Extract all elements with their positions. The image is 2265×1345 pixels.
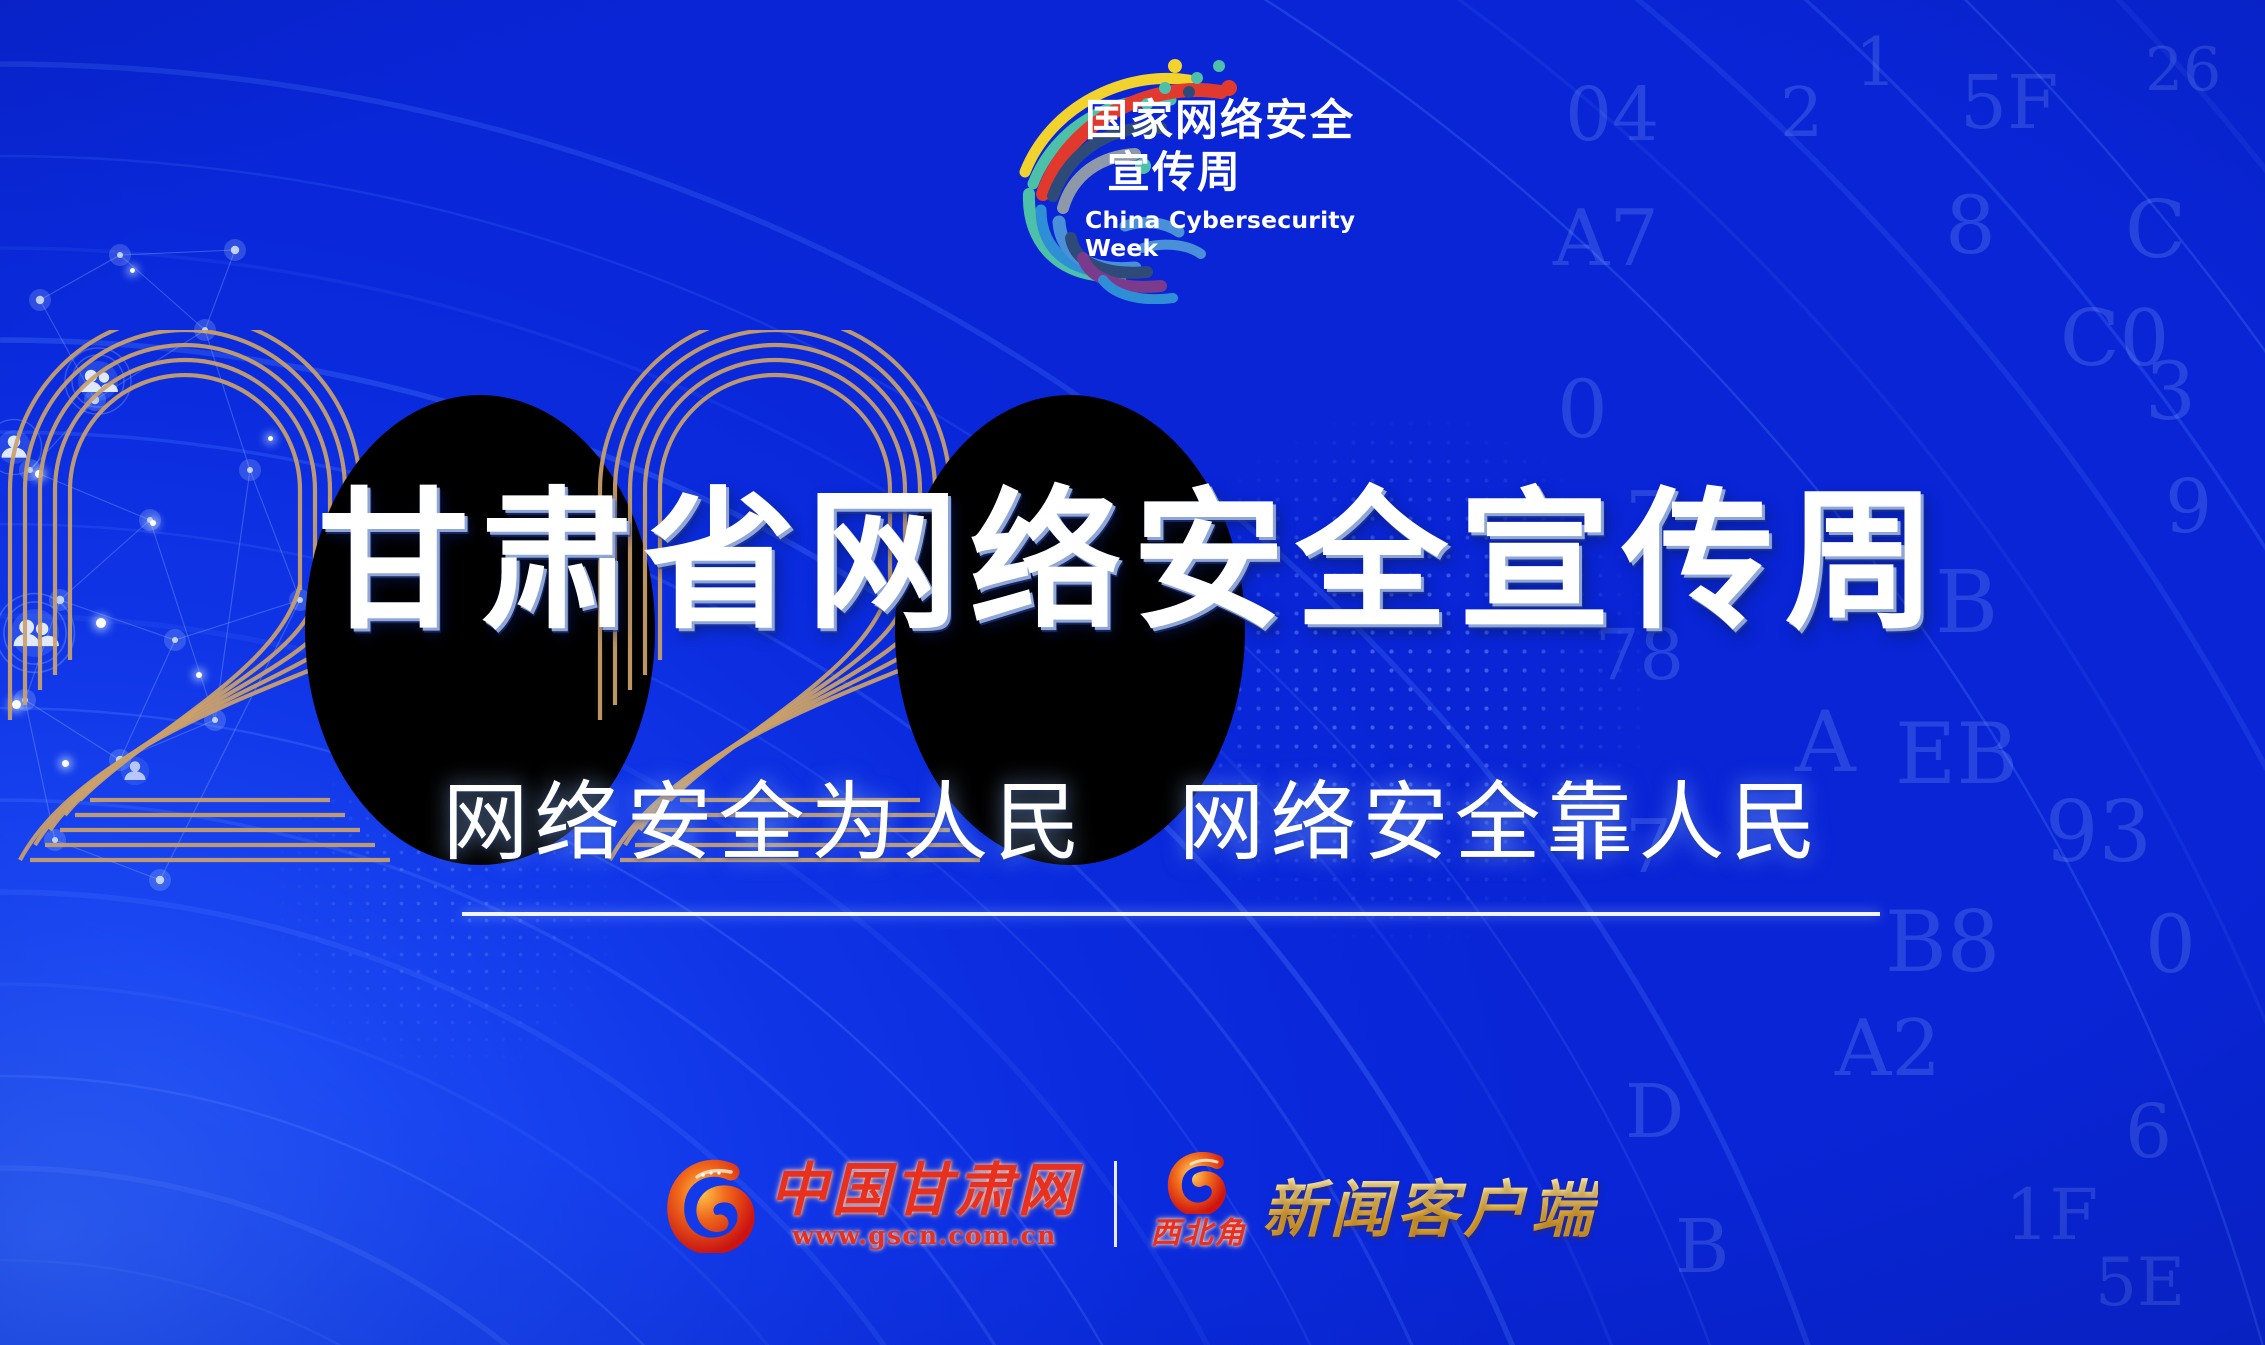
gansu-net-logo: 中国甘肃网 www.gscn.com.cn <box>667 1155 1079 1253</box>
code-glyph: 26 <box>2145 40 2221 100</box>
northwest-corner-brand: 西北角 <box>1151 1208 1247 1252</box>
halftone-dot-field-left <box>240 640 760 1160</box>
hex-code-glyph-field: 045FA78CC00379B78AEB793B80A2D61FB5E2126 <box>1505 0 2265 1345</box>
national-logo-english: China Cybersecurity Week <box>1085 206 1415 262</box>
person-icon <box>0 415 46 479</box>
code-glyph: 8 <box>1945 186 1996 266</box>
news-client-label: 新闻客户端 <box>1263 1159 1598 1249</box>
halftone-dot-field-right <box>1040 300 1760 1060</box>
code-glyph: 1 <box>1855 30 1897 96</box>
code-glyph: C <box>2125 190 2186 270</box>
subtitle-slogan: 网络安全为人民 网络安全靠人民 <box>0 780 2265 866</box>
code-glyph: 0 <box>1557 370 1608 450</box>
page-title: 甘肃省网络安全宣传周 <box>0 486 2265 638</box>
code-glyph: C0 <box>2060 300 2169 378</box>
people-group-icon <box>62 345 134 417</box>
code-glyph: 0 <box>2145 905 2196 985</box>
poster-canvas: 1010010010101001010101000101001101001001… <box>0 0 2265 1345</box>
code-glyph: 2 <box>1780 80 1823 148</box>
national-logo-line1: 国家网络安全 <box>1085 100 1415 143</box>
national-logo-wordmark: 国家网络安全 宣传周 China Cybersecurity Week <box>1085 100 1415 262</box>
gansu-net-name: 中国甘肃网 <box>769 1161 1079 1219</box>
code-glyph: 5F <box>1960 66 2058 140</box>
national-logo-line2: 宣传周 <box>1107 152 1415 195</box>
code-glyph: A7 <box>1553 200 1659 278</box>
code-glyph: 3 <box>2145 352 2196 432</box>
code-glyph: 04 <box>1565 78 1659 152</box>
subtitle-underline <box>462 912 1880 916</box>
northwest-corner-swirl-mark: 西北角 <box>1151 1152 1247 1256</box>
northwest-corner-logo: 西北角 新闻客户端 <box>1151 1152 1598 1256</box>
code-glyph: D <box>1625 1075 1684 1149</box>
footer-divider <box>1114 1161 1117 1247</box>
code-glyph: A <box>1795 700 1856 784</box>
code-glyph: A2 <box>1835 1010 1941 1088</box>
code-glyph: 5E <box>2095 1250 2185 1316</box>
gansu-net-url: www.gscn.com.cn <box>792 1223 1056 1248</box>
footer-logo-bar: 中国甘肃网 www.gscn.com.cn <box>0 1152 2265 1256</box>
china-gansu-net-swirl-mark <box>667 1155 759 1253</box>
code-glyph: B8 <box>1885 900 2000 984</box>
